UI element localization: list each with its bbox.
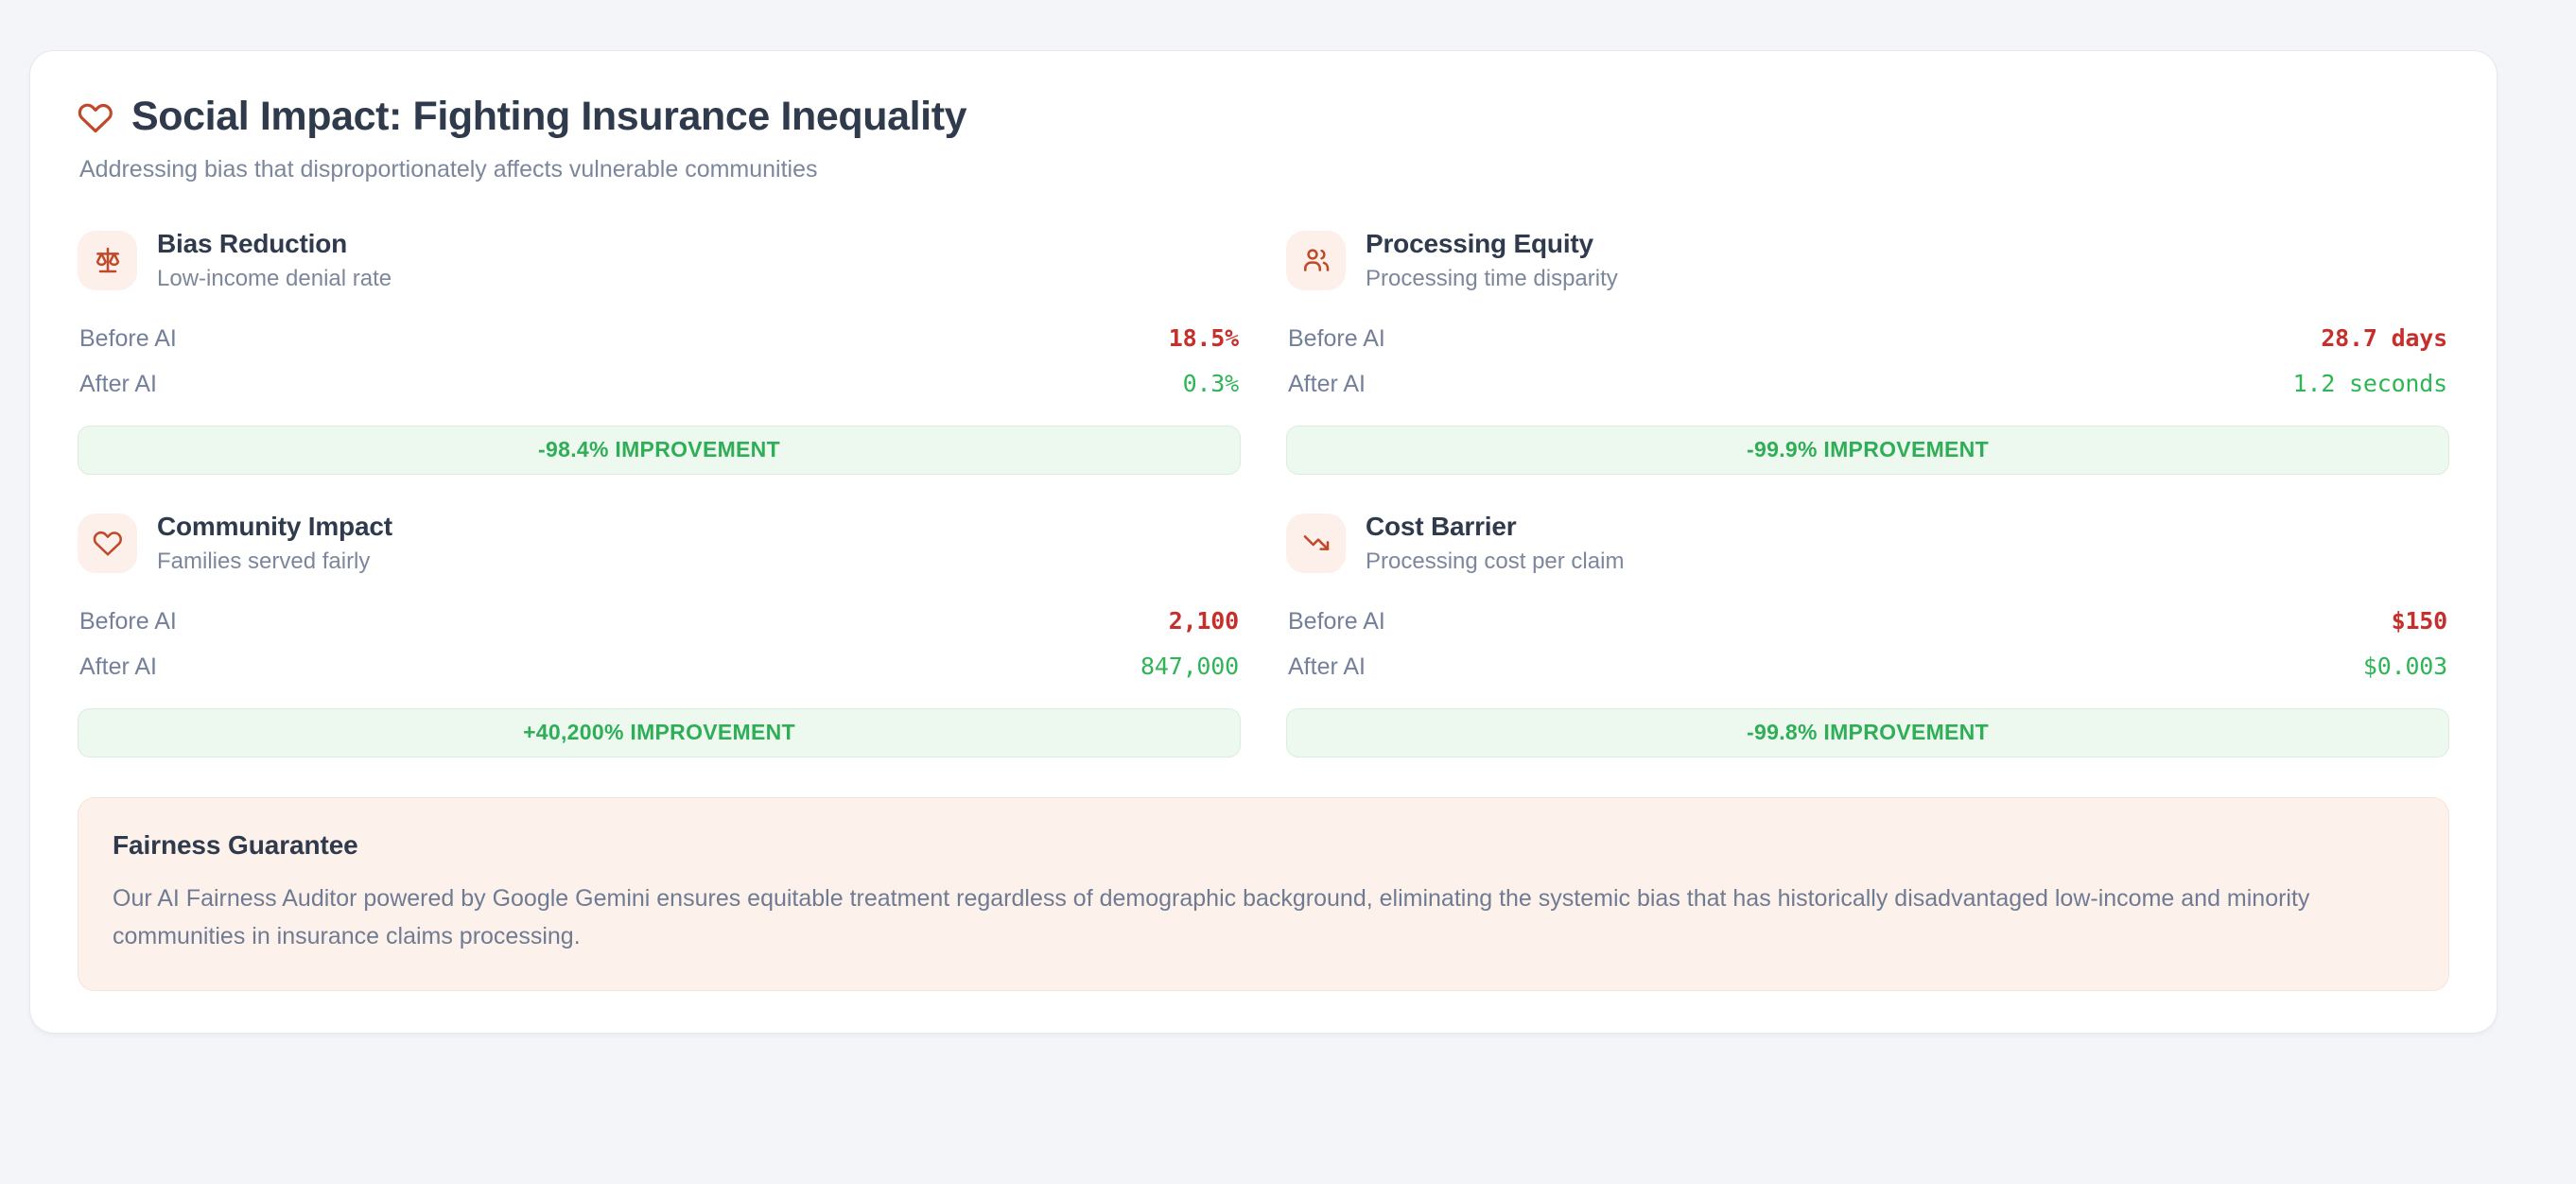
after-row: After AI 1.2 seconds (1286, 361, 2449, 407)
before-row: Before AI 2,100 (78, 599, 1241, 644)
before-label: Before AI (79, 608, 177, 636)
metric-values: Before AI $150 After AI $0.003 (1286, 599, 2449, 689)
metric-description: Processing cost per claim (1366, 548, 1624, 576)
before-value: 18.5% (1169, 324, 1239, 352)
improvement-badge: +40,200% IMPROVEMENT (78, 708, 1241, 757)
metric-grid: Bias Reduction Low-income denial rate Be… (78, 222, 2449, 757)
after-value: 0.3% (1183, 370, 1239, 397)
before-value: 28.7 days (2321, 324, 2447, 352)
after-label: After AI (1288, 371, 1366, 398)
page-title: Social Impact: Fighting Insurance Inequa… (131, 95, 966, 139)
metric-description: Families served fairly (157, 548, 392, 576)
after-label: After AI (1288, 653, 1366, 681)
before-row: Before AI $150 (1286, 599, 2449, 644)
card-header: Social Impact: Fighting Insurance Inequa… (78, 95, 2449, 186)
before-row: Before AI 28.7 days (1286, 316, 2449, 361)
before-row: Before AI 18.5% (78, 316, 1241, 361)
before-label: Before AI (1288, 325, 1385, 353)
title-row: Social Impact: Fighting Insurance Inequa… (78, 95, 2449, 139)
metric-text: Cost Barrier Processing cost per claim (1366, 511, 1624, 576)
users-icon (1301, 245, 1332, 275)
metric-title: Community Impact (157, 511, 392, 542)
before-value: 2,100 (1169, 607, 1239, 635)
metric-card-community-impact: Community Impact Families served fairly … (78, 505, 1241, 757)
after-value: 1.2 seconds (2293, 370, 2447, 397)
trending-down-icon (1301, 528, 1332, 558)
metric-description: Low-income denial rate (157, 266, 392, 293)
metric-values: Before AI 2,100 After AI 847,000 (78, 599, 1241, 689)
metric-text: Community Impact Families served fairly (157, 511, 392, 576)
after-value: 847,000 (1140, 653, 1239, 680)
fairness-title: Fairness Guarantee (113, 830, 2414, 861)
metric-icon-badge (78, 514, 137, 573)
after-row: After AI $0.003 (1286, 644, 2449, 689)
metric-title: Processing Equity (1366, 228, 1618, 259)
metric-header: Processing Equity Processing time dispar… (1286, 228, 2449, 293)
metric-icon-badge (1286, 231, 1346, 290)
before-label: Before AI (1288, 608, 1385, 636)
scales-icon (93, 245, 123, 275)
metric-description: Processing time disparity (1366, 266, 1618, 293)
before-label: Before AI (79, 325, 177, 353)
metric-text: Bias Reduction Low-income denial rate (157, 228, 392, 293)
improvement-badge: -99.9% IMPROVEMENT (1286, 426, 2449, 475)
heart-icon (78, 99, 113, 135)
metric-icon-badge (1286, 514, 1346, 573)
fairness-guarantee-panel: Fairness Guarantee Our AI Fairness Audit… (78, 797, 2449, 991)
page-subtitle: Addressing bias that disproportionately … (79, 154, 2449, 186)
after-label: After AI (79, 653, 157, 681)
page-root: Social Impact: Fighting Insurance Inequa… (0, 0, 2576, 1184)
after-label: After AI (79, 371, 157, 398)
metric-icon-badge (78, 231, 137, 290)
after-row: After AI 0.3% (78, 361, 1241, 407)
before-value: $150 (2392, 607, 2447, 635)
metric-values: Before AI 18.5% After AI 0.3% (78, 316, 1241, 407)
after-value: $0.003 (2363, 653, 2447, 680)
metric-header: Bias Reduction Low-income denial rate (78, 228, 1241, 293)
metric-title: Cost Barrier (1366, 511, 1624, 542)
social-impact-card: Social Impact: Fighting Insurance Inequa… (29, 50, 2498, 1034)
fairness-body: Our AI Fairness Auditor powered by Googl… (113, 879, 2414, 956)
after-row: After AI 847,000 (78, 644, 1241, 689)
metric-title: Bias Reduction (157, 228, 392, 259)
improvement-badge: -99.8% IMPROVEMENT (1286, 708, 2449, 757)
metric-card-cost-barrier: Cost Barrier Processing cost per claim B… (1286, 505, 2449, 757)
metric-text: Processing Equity Processing time dispar… (1366, 228, 1618, 293)
improvement-badge: -98.4% IMPROVEMENT (78, 426, 1241, 475)
metric-card-processing-equity: Processing Equity Processing time dispar… (1286, 222, 2449, 475)
metric-header: Community Impact Families served fairly (78, 511, 1241, 576)
metric-card-bias-reduction: Bias Reduction Low-income denial rate Be… (78, 222, 1241, 475)
metric-values: Before AI 28.7 days After AI 1.2 seconds (1286, 316, 2449, 407)
metric-header: Cost Barrier Processing cost per claim (1286, 511, 2449, 576)
heart-icon (93, 528, 123, 558)
